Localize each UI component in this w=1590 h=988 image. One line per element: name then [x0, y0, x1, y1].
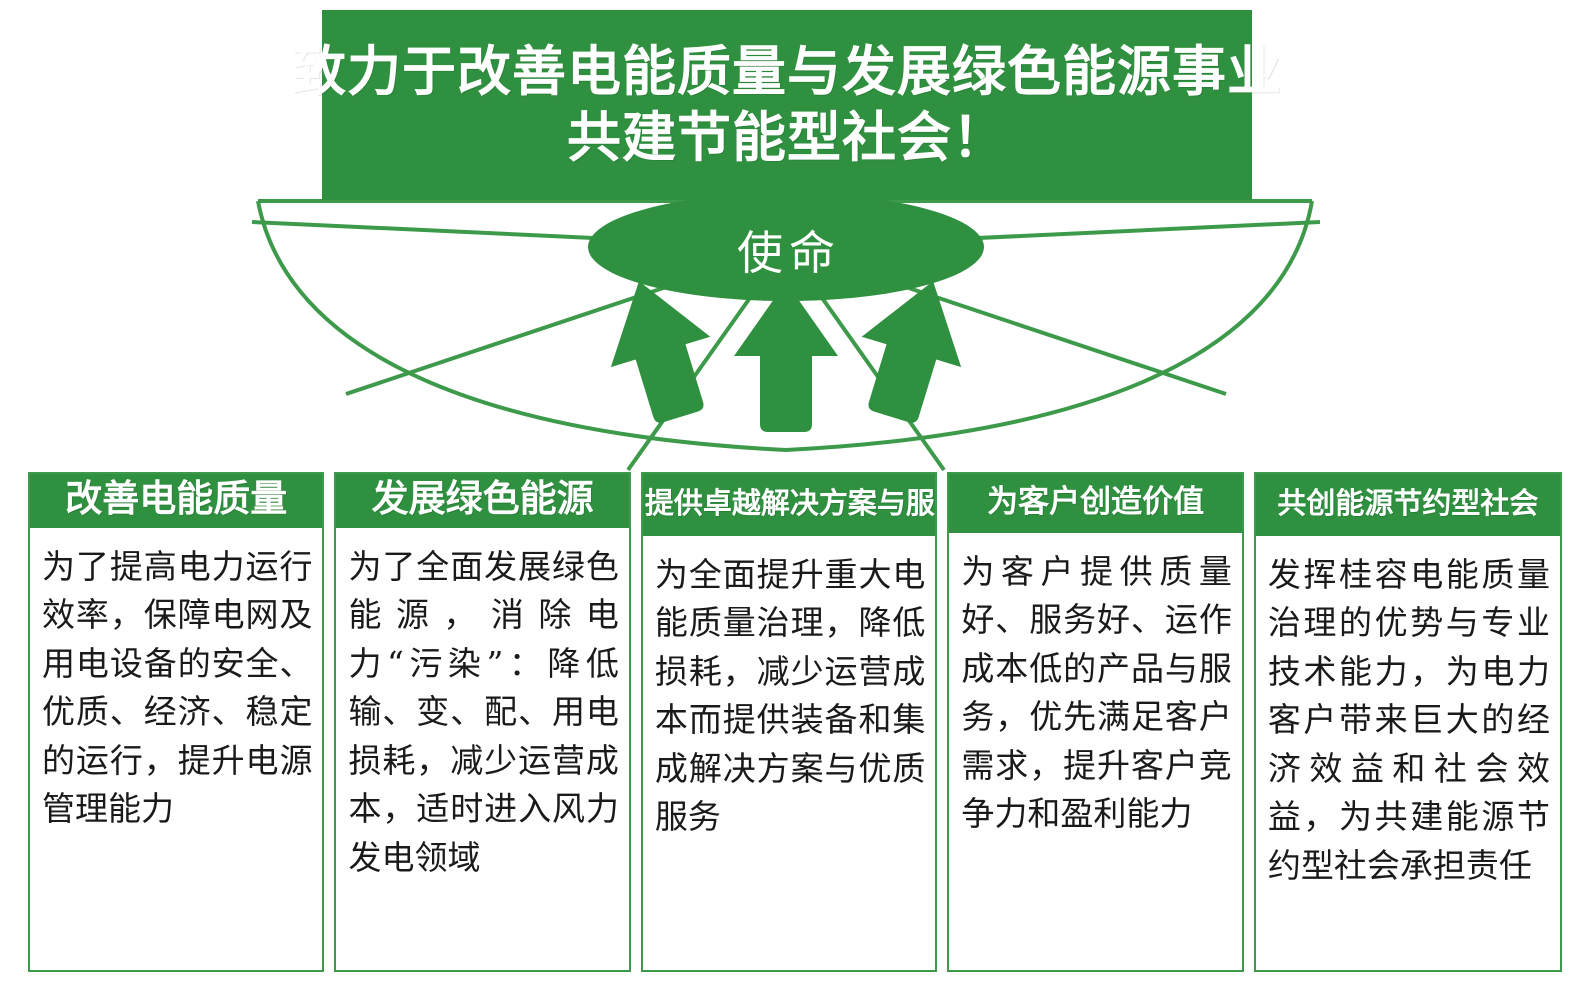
pillar-card-4: 为客户创造价值 为客户提供质量好、服务好、运作成本低的产品与服务，优先满足客户需… — [947, 472, 1243, 972]
pillar-card-4-body: 为客户提供质量好、服务好、运作成本低的产品与服务，优先满足客户需求，提升客户竞争… — [949, 536, 1241, 970]
pillar-card-4-header: 为客户创造价值 — [949, 474, 1241, 536]
pillar-card-1-body: 为了提高电力运行效率，保障电网及用电设备的安全、优质、经济、稳定的运行，提升电源… — [30, 531, 322, 970]
pillar-cards-row: 改善电能质量 为了提高电力运行效率，保障电网及用电设备的安全、优质、经济、稳定的… — [28, 472, 1562, 972]
pillar-card-1-header: 改善电能质量 — [30, 474, 322, 531]
mission-banner-line-2: 共建节能型社会！ — [567, 105, 1007, 171]
pillar-card-3: 提供卓越解决方案与服务 为全面提升重大电能质量治理，降低损耗，减少运营成本而提供… — [641, 472, 937, 972]
arrow-center-icon — [734, 282, 838, 432]
pillar-card-3-body: 为全面提升重大电能质量治理，降低损耗，减少运营成本而提供装备和集成解决方案与优质… — [643, 539, 935, 970]
pillar-card-2: 发展绿色能源 为了全面发展绿色能源，消除电力“污染”：降低输、变、配、用电损耗，… — [334, 472, 630, 972]
mission-center-node: 使命 — [588, 193, 984, 301]
pillar-card-2-header: 发展绿色能源 — [336, 474, 628, 531]
mission-banner: 致力于改善电能质量与发展绿色能源事业 共建节能型社会！ — [322, 10, 1252, 200]
pillar-card-5: 共创能源节约型社会 发挥桂容电能质量治理的优势与专业技术能力，为电力客户带来巨大… — [1254, 472, 1562, 972]
mission-center-label: 使命 — [731, 211, 841, 283]
pillar-card-5-body: 发挥桂容电能质量治理的优势与专业技术能力，为电力客户带来巨大的经济效益和社会效益… — [1256, 539, 1560, 970]
pillar-card-1: 改善电能质量 为了提高电力运行效率，保障电网及用电设备的安全、优质、经济、稳定的… — [28, 472, 324, 972]
mission-banner-line-1: 致力于改善电能质量与发展绿色能源事业 — [292, 39, 1282, 105]
pillar-card-5-header: 共创能源节约型社会 — [1256, 474, 1560, 539]
pillar-card-2-body: 为了全面发展绿色能源，消除电力“污染”：降低输、变、配、用电损耗，减少运营成本，… — [336, 531, 628, 970]
pillar-card-3-header: 提供卓越解决方案与服务 — [643, 474, 935, 539]
